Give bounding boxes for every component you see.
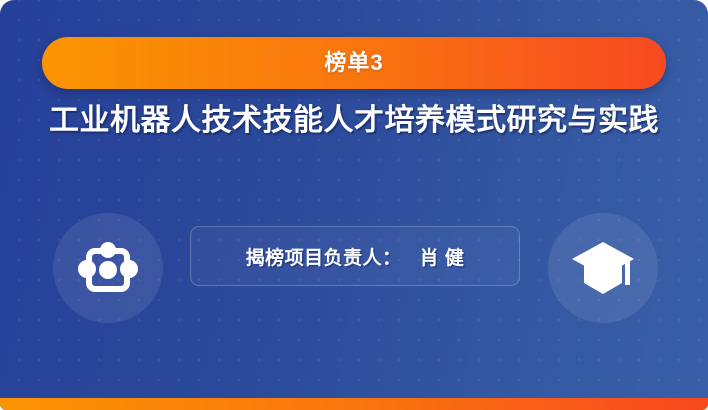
ranking-card: 榜单3 工业机器人技术技能人才培养模式研究与实践: [0, 0, 708, 410]
robot-icon-circle: [53, 213, 163, 323]
project-leader-box: 揭榜项目负责人： 肖 健: [190, 226, 520, 286]
page-title: 工业机器人技术技能人才培养模式研究与实践: [0, 103, 708, 139]
robot-icon: [76, 236, 140, 300]
graduation-cap-icon-circle: [548, 213, 658, 323]
project-leader-label: 揭榜项目负责人：: [246, 243, 402, 270]
ranking-badge[interactable]: 榜单3: [42, 37, 666, 89]
project-leader-name: 肖 健: [420, 243, 465, 270]
ranking-badge-pill[interactable]: 榜单3: [42, 37, 666, 89]
bottom-accent-strip: [0, 398, 708, 410]
ranking-badge-label: 榜单3: [324, 52, 383, 74]
graduation-cap-icon: [570, 237, 636, 299]
